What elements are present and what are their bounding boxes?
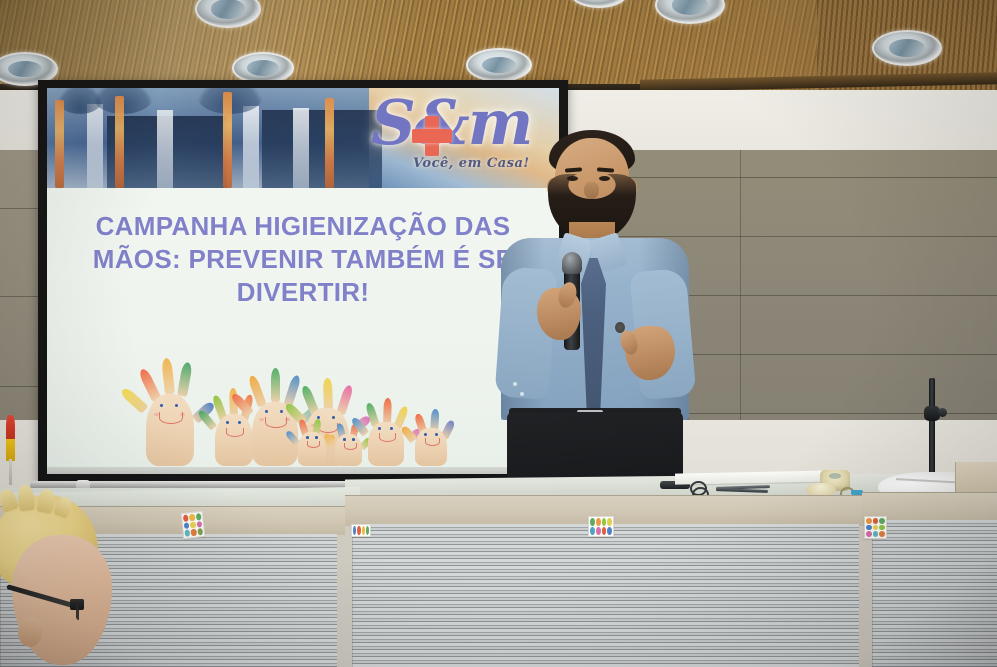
slide-title-line-1: CAMPANHA HIGIENIZAÇÃO DAS	[61, 210, 545, 243]
banner-building-column	[243, 106, 259, 188]
roller-shutter-mid	[352, 524, 859, 667]
sticker-sheet	[588, 516, 614, 537]
sticker-sheet	[864, 516, 887, 539]
slide-title-line-2: MÃOS: PREVENIR TAMBÉM É SE	[61, 243, 545, 276]
sticker-sheet	[351, 524, 371, 537]
hand-face	[335, 434, 362, 455]
cuff-button	[513, 382, 517, 386]
banner-palm-trunk	[223, 92, 232, 188]
downlight-icon	[466, 48, 532, 82]
slide-floor-line	[47, 467, 559, 474]
downlight-icon	[872, 30, 942, 66]
cuff-button	[520, 392, 524, 396]
hand-illustration	[408, 404, 466, 466]
slide-body: CAMPANHA HIGIENIZAÇÃO DAS MÃOS: PREVENIR…	[47, 188, 559, 474]
projection-screen: S&m Você, em Casa! CAMPANHA HIGIENIZAÇÃO…	[47, 88, 559, 474]
banner-palm-trunk	[115, 96, 124, 188]
banner-palm-trunk	[325, 98, 334, 188]
stand-adjust-knob[interactable]	[938, 408, 947, 417]
sticker-sheet	[181, 511, 206, 539]
slide-title: CAMPANHA HIGIENIZAÇÃO DAS MÃOS: PREVENIR…	[61, 210, 545, 309]
roller-shutter-right	[872, 520, 997, 667]
presentation-scene: S&m Você, em Casa! CAMPANHA HIGIENIZAÇÃO…	[0, 0, 997, 667]
banner-building-column	[293, 108, 309, 188]
banner-building-column	[87, 104, 103, 188]
microphone-grille	[562, 252, 582, 274]
smiling-hands-graphic	[132, 334, 462, 466]
banner-palm-trunk	[55, 100, 64, 188]
hand-illustration	[138, 340, 212, 466]
red-cross-icon	[412, 129, 452, 143]
slide-title-line-3: DIVERTIR!	[61, 276, 545, 309]
hand-face	[146, 398, 194, 432]
hand-face	[298, 432, 326, 454]
banner-building-column	[157, 110, 173, 188]
hand-face	[415, 428, 447, 452]
decorative-flag-object	[0, 415, 22, 485]
audience-member	[0, 495, 120, 667]
hand-face	[368, 422, 404, 448]
eyeglasses	[4, 599, 88, 637]
presenter	[485, 130, 705, 515]
glasses-lens-edge	[76, 604, 91, 620]
scissors-on-counter	[690, 481, 770, 495]
slide-banner-photo: S&m Você, em Casa!	[47, 88, 559, 188]
